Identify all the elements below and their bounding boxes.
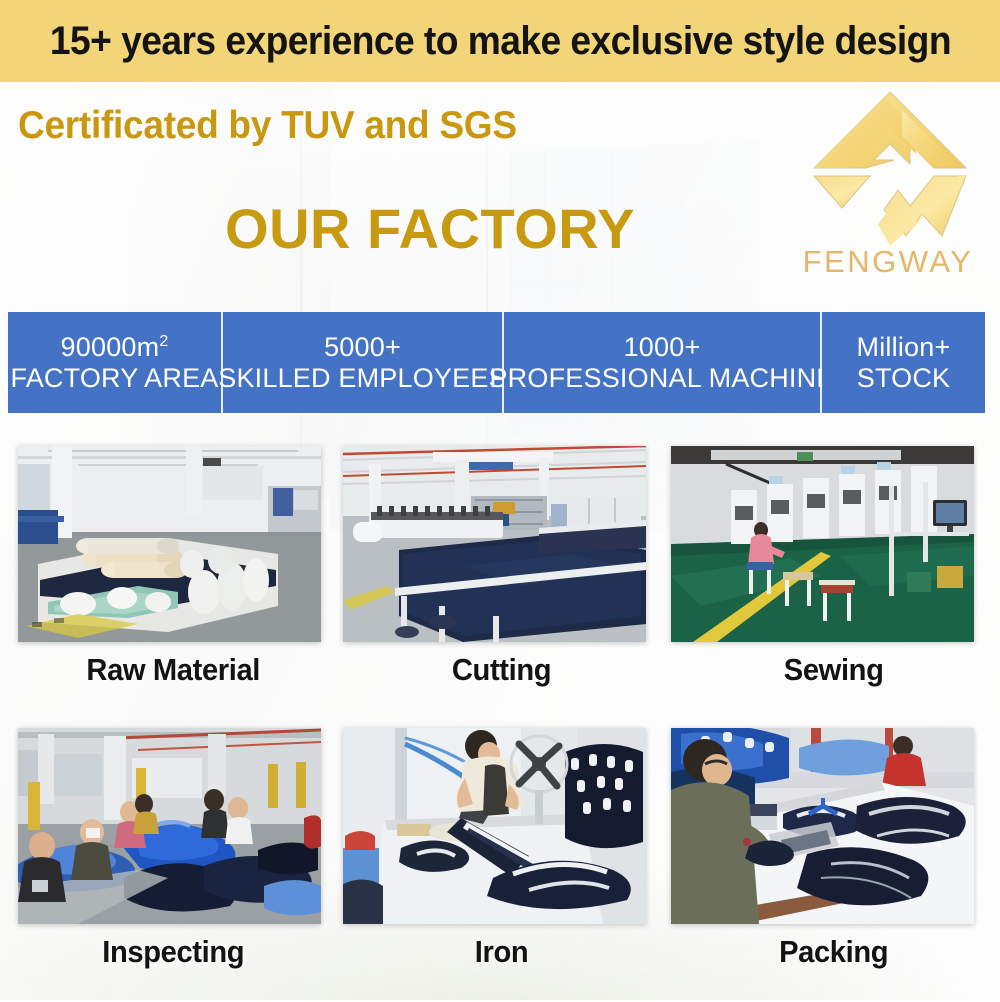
sewing-machine-production-line-photo bbox=[671, 446, 974, 642]
stat-value-superscript: 2 bbox=[159, 333, 168, 350]
stat-label: SKILLED EMPLOYEES bbox=[218, 363, 507, 393]
stat-value-text: Million+ bbox=[857, 332, 951, 362]
fabric-spreading-cutting-table-photo bbox=[343, 446, 646, 642]
stat-label: STOCK bbox=[857, 363, 951, 393]
stat-value: 90000m2 bbox=[61, 332, 169, 362]
stat-label: FACTORY AREA bbox=[11, 363, 219, 393]
stat-value-text: 5000+ bbox=[324, 332, 401, 362]
stat-value-text: 90000m bbox=[61, 332, 160, 362]
process-cell-packing: Packing bbox=[667, 722, 1000, 1002]
process-caption: Sewing bbox=[677, 652, 990, 688]
process-photo-grid: Raw Material bbox=[0, 440, 1000, 1000]
top-banner: 15+ years experience to make exclusive s… bbox=[0, 0, 1000, 82]
process-row-2: Inspecting bbox=[0, 722, 1000, 1002]
stat-value: 5000+ bbox=[324, 332, 401, 362]
stat-label: PROFESSIONAL MACHINE bbox=[489, 363, 834, 393]
factory-stats-bar: 90000m2 FACTORY AREA 5000+ SKILLED EMPLO… bbox=[8, 312, 985, 413]
workers-inspecting-garments-photo bbox=[18, 728, 321, 924]
stat-stock: Million+ STOCK bbox=[822, 312, 985, 413]
process-cell-sewing: Sewing bbox=[667, 440, 1000, 720]
company-logo: FENGWAY bbox=[788, 86, 988, 301]
process-caption: Cutting bbox=[343, 652, 656, 688]
stat-value: 1000+ bbox=[624, 332, 701, 362]
process-cell-inspecting: Inspecting bbox=[0, 722, 333, 1002]
process-cell-iron: Iron bbox=[333, 722, 666, 1002]
certification-heading: Certificated by TUV and SGS bbox=[18, 104, 517, 148]
process-caption: Inspecting bbox=[10, 934, 323, 970]
stat-value-text: 1000+ bbox=[624, 332, 701, 362]
stat-value: Million+ bbox=[857, 332, 951, 362]
logo-wordmark: FENGWAY bbox=[788, 244, 988, 280]
worker-ironing-trousers-photo bbox=[343, 728, 646, 924]
process-caption: Raw Material bbox=[10, 652, 323, 688]
worker-folding-packing-garments-photo bbox=[671, 728, 974, 924]
process-cell-cutting: Cutting bbox=[333, 440, 666, 720]
stat-professional-machine: 1000+ PROFESSIONAL MACHINE bbox=[504, 312, 822, 413]
process-cell-raw-material: Raw Material bbox=[0, 440, 333, 720]
page-title: OUR FACTORY bbox=[0, 196, 860, 261]
process-row-1: Raw Material bbox=[0, 440, 1000, 720]
process-caption: Packing bbox=[677, 934, 990, 970]
stat-factory-area: 90000m2 FACTORY AREA bbox=[8, 312, 223, 413]
warehouse-fabric-rolls-photo bbox=[18, 446, 321, 642]
fengway-diamond-logo-icon bbox=[806, 86, 974, 254]
process-caption: Iron bbox=[343, 934, 656, 970]
banner-headline: 15+ years experience to make exclusive s… bbox=[49, 19, 950, 64]
stat-skilled-employees: 5000+ SKILLED EMPLOYEES bbox=[223, 312, 504, 413]
